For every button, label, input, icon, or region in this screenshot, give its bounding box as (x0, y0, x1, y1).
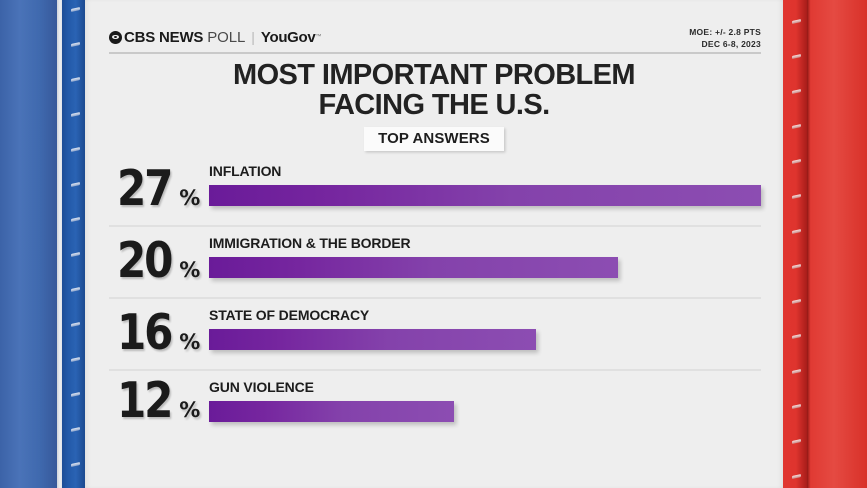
result-bar (209, 401, 454, 422)
title-block: MOST IMPORTANT PROBLEM FACING THE U.S. T… (85, 60, 783, 151)
top-answers-chip: TOP ANSWERS (364, 127, 504, 151)
page-title-line1: MOST IMPORTANT PROBLEM (85, 60, 783, 90)
header-divider (109, 52, 761, 54)
result-percentage: 12 % (117, 381, 200, 421)
rail-tick-icon (71, 77, 80, 82)
poll-meta: MOE: +/- 2.8 PTS DEC 6-8, 2023 (689, 27, 761, 50)
result-percentage: 16 % (117, 313, 200, 353)
rail-tick-icon (792, 299, 801, 304)
result-bar (209, 185, 761, 206)
brand-lockup: CBS NEWS POLL | YouGov ™ (109, 28, 321, 46)
result-body: GUN VIOLENCE (209, 379, 761, 422)
rail-tick-icon (792, 194, 801, 199)
brand-partner: YouGov (261, 29, 316, 46)
rail-tick-icon (792, 229, 801, 234)
result-percentage: 20 % (117, 241, 200, 281)
page-title-line2: FACING THE U.S. (85, 90, 783, 120)
percent-sign: % (179, 332, 200, 353)
result-row: 12 % GUN VIOLENCE (109, 371, 761, 439)
percent-sign: % (179, 260, 200, 281)
cbs-eye-icon (109, 31, 122, 44)
result-label: IMMIGRATION & THE BORDER (209, 235, 761, 251)
trademark-icon: ™ (315, 34, 321, 40)
rail-tick-icon (792, 124, 801, 129)
rail-tick-icon (71, 182, 80, 187)
result-body: INFLATION (209, 163, 761, 206)
result-value: 12 (117, 381, 171, 421)
left-blue-rail (62, 0, 85, 488)
result-body: IMMIGRATION & THE BORDER (209, 235, 761, 278)
margin-of-error: MOE: +/- 2.8 PTS (689, 27, 761, 39)
rail-tick-icon (792, 404, 801, 409)
rail-tick-icon (71, 252, 80, 257)
result-percentage: 27 % (117, 169, 200, 209)
rail-tick-icon (71, 427, 80, 432)
poll-card: CBS NEWS POLL | YouGov ™ MOE: +/- 2.8 PT… (85, 0, 783, 488)
rail-tick-icon (792, 19, 801, 24)
rail-tick-icon (71, 7, 80, 12)
rail-tick-icon (71, 42, 80, 47)
rail-tick-icon (71, 112, 80, 117)
rail-tick-icon (792, 439, 801, 444)
result-row: 16 % STATE OF DEMOCRACY (109, 299, 761, 371)
result-value: 20 (117, 241, 171, 281)
result-value: 16 (117, 313, 171, 353)
result-label: STATE OF DEMOCRACY (209, 307, 761, 323)
rail-tick-icon (792, 264, 801, 269)
rail-tick-icon (71, 287, 80, 292)
rail-tick-icon (792, 89, 801, 94)
brand-poll-word: POLL (207, 29, 245, 46)
rail-tick-icon (792, 54, 801, 59)
rail-tick-icon (792, 334, 801, 339)
brand-separator: | (251, 29, 255, 45)
rail-tick-icon (71, 147, 80, 152)
result-value: 27 (117, 169, 171, 209)
result-label: INFLATION (209, 163, 761, 179)
rail-tick-icon (792, 159, 801, 164)
rail-tick-icon (71, 392, 80, 397)
percent-sign: % (179, 188, 200, 209)
result-row: 20 % IMMIGRATION & THE BORDER (109, 227, 761, 299)
left-blue-wall (0, 0, 57, 488)
result-row: 27 % INFLATION (109, 155, 761, 227)
rail-tick-icon (792, 474, 801, 479)
rail-tick-icon (792, 369, 801, 374)
rail-tick-icon (71, 217, 80, 222)
right-red-wall (807, 0, 867, 488)
percent-sign: % (179, 400, 200, 421)
rail-tick-icon (71, 462, 80, 467)
result-bar (209, 329, 536, 350)
poll-date: DEC 6-8, 2023 (689, 39, 761, 51)
poll-graphic: CBS NEWS POLL | YouGov ™ MOE: +/- 2.8 PT… (0, 0, 867, 488)
card-header: CBS NEWS POLL | YouGov ™ MOE: +/- 2.8 PT… (109, 28, 761, 60)
brand-network: CBS NEWS (124, 29, 203, 46)
results-list: 27 % INFLATION 20 % IMMIGRATION & THE BO… (109, 155, 761, 439)
rail-tick-icon (71, 357, 80, 362)
rail-tick-icon (71, 322, 80, 327)
result-label: GUN VIOLENCE (209, 379, 761, 395)
result-bar (209, 257, 618, 278)
result-body: STATE OF DEMOCRACY (209, 307, 761, 350)
